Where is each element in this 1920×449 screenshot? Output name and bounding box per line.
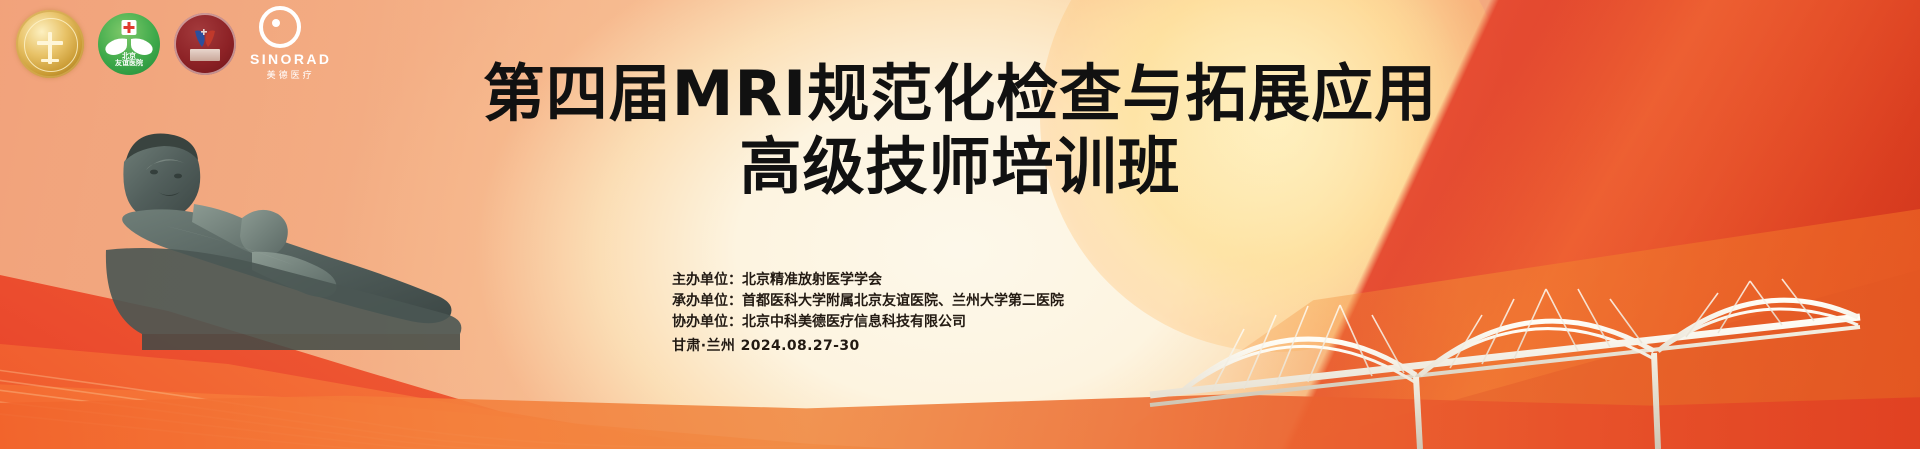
medical-cross-icon	[122, 20, 137, 35]
title-line-1: 第四届MRI规范化检查与拓展应用	[0, 62, 1920, 126]
organizer-line-undertaker: 承办单位：首都医科大学附属北京友谊医院、兰州大学第二医院	[672, 291, 1064, 312]
banner-title: 第四届MRI规范化检查与拓展应用 高级技师培训班	[0, 62, 1920, 200]
zhongshan-bridge-illustration	[1120, 199, 1880, 449]
green-logo-label-1: 北京	[122, 53, 136, 61]
conference-banner: 北京 友谊医院 SINORAD 美德医疗 第四届MRI规范化检查与拓展应用 高级…	[0, 0, 1920, 449]
gold-cross-bar-icon	[37, 41, 63, 45]
location-date-line: 甘肃·兰州 2024.08.27-30	[672, 336, 1064, 357]
maroon-base-icon	[190, 49, 220, 61]
eye-circle-icon	[259, 6, 301, 48]
title-line-2: 高级技师培训班	[0, 134, 1920, 200]
organizer-line-co-organizer: 协办单位：北京中科美德医疗信息科技有限公司	[672, 312, 1064, 333]
organizer-info-block: 主办单位：北京精准放射医学学会 承办单位：首都医科大学附属北京友谊医院、兰州大学…	[672, 270, 1064, 357]
maroon-emblem-icon	[191, 29, 219, 49]
organizer-line-host: 主办单位：北京精准放射医学学会	[672, 270, 1064, 291]
